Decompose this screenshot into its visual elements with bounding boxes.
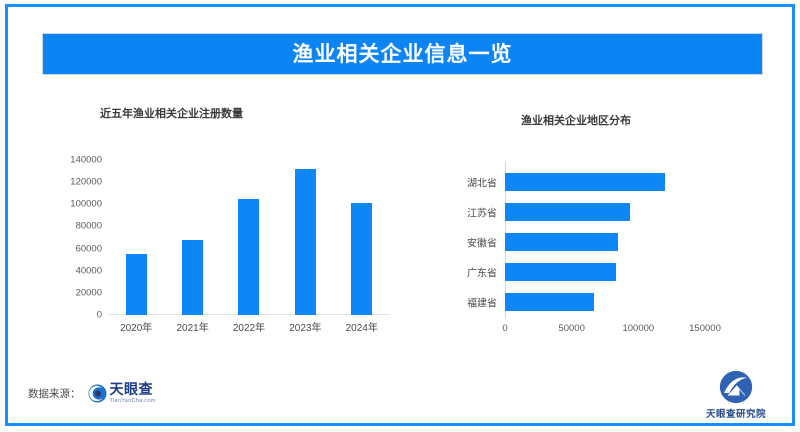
province-label: 江苏省 [467, 205, 497, 220]
vertical-bar-slot [108, 160, 164, 315]
horizontal-bar[interactable] [505, 203, 630, 221]
horizontal-bar-row: 广东省 [505, 257, 705, 287]
y-axis-tick: 60000 [76, 243, 102, 254]
province-label: 福建省 [467, 295, 497, 310]
vertical-plot-area: 020000400006000080000100000120000140000 … [108, 160, 390, 315]
province-label: 安徽省 [467, 235, 497, 250]
page-title: 渔业相关企业信息一览 [293, 44, 513, 65]
tianyancha-logo: 天眼查 TianYanCha.com [88, 383, 156, 405]
tianyancha-wordmark: 天眼查 TianYanCha.com [110, 383, 156, 405]
y-axis-tick-labels: 020000400006000080000100000120000140000 [32, 160, 102, 315]
horizontal-bar-row: 福建省 [505, 287, 705, 317]
x-axis-category-labels: 2020年2021年2022年2023年2024年 [108, 319, 390, 334]
infographic-poster: 渔业相关企业信息一览 近五年渔业相关企业注册数量 020000400006000… [0, 0, 800, 432]
title-banner: 渔业相关企业信息一览 [42, 33, 763, 75]
vertical-bars-group [108, 160, 390, 315]
y-axis-tick: 140000 [70, 155, 102, 166]
vertical-bar-slot [334, 160, 390, 315]
x-axis-tick: 0 [502, 323, 507, 334]
horizontal-plot-area: 湖北省江苏省安徽省广东省福建省 050000100000150000 [505, 167, 705, 317]
registration-count-bar-chart: 020000400006000080000100000120000140000 … [30, 95, 410, 355]
tianyancha-brand-name: 天眼查 [110, 383, 156, 397]
data-source: 数据来源： 天眼查 TianYanCha.com [28, 383, 156, 405]
province-label: 湖北省 [467, 175, 497, 190]
data-source-label: 数据来源： [28, 386, 81, 401]
x-axis-category-label: 2023年 [277, 319, 333, 334]
x-axis-category-label: 2021年 [165, 319, 221, 334]
horizontal-bar[interactable] [505, 293, 594, 311]
vertical-bar[interactable] [351, 203, 372, 315]
research-institute-name: 天眼查研究院 [706, 406, 766, 420]
y-axis-tick: 40000 [76, 265, 102, 276]
x-axis-category-label: 2024年 [334, 319, 390, 334]
x-axis-category-label: 2022年 [221, 319, 277, 334]
x-axis-tick-labels: 050000100000150000 [505, 323, 705, 337]
vertical-bar-slot [277, 160, 333, 315]
y-axis-tick: 80000 [76, 221, 102, 232]
province-label: 广东省 [467, 265, 497, 280]
horizontal-bar[interactable] [505, 263, 616, 281]
vertical-bar[interactable] [295, 169, 316, 315]
horizontal-bar-row: 江苏省 [505, 197, 705, 227]
x-axis-tick: 150000 [689, 323, 721, 334]
vertical-bar-slot [165, 160, 221, 315]
y-axis-tick: 20000 [76, 287, 102, 298]
y-axis-tick: 100000 [70, 199, 102, 210]
research-institute-icon [719, 370, 753, 404]
x-axis-category-label: 2020年 [108, 319, 164, 334]
vertical-bar[interactable] [126, 254, 147, 315]
horizontal-bar-row: 湖北省 [505, 167, 705, 197]
horizontal-bar[interactable] [505, 233, 618, 251]
tianyancha-domain: TianYanCha.com [110, 399, 156, 405]
tianyancha-eye-icon [88, 384, 107, 403]
vertical-bar[interactable] [238, 199, 259, 315]
horizontal-bars-group: 湖北省江苏省安徽省广东省福建省 [505, 167, 705, 317]
region-distribution-bar-chart: 湖北省江苏省安徽省广东省福建省 050000100000150000 [430, 95, 770, 355]
horizontal-bar[interactable] [505, 173, 665, 191]
research-institute-logo: 天眼查研究院 [697, 370, 775, 420]
x-axis-tick: 100000 [622, 323, 654, 334]
x-axis-tick: 50000 [558, 323, 584, 334]
y-axis-tick: 120000 [70, 177, 102, 188]
vertical-bar-slot [221, 160, 277, 315]
y-axis-tick: 0 [97, 310, 102, 321]
vertical-bar[interactable] [182, 240, 203, 315]
horizontal-bar-row: 安徽省 [505, 227, 705, 257]
